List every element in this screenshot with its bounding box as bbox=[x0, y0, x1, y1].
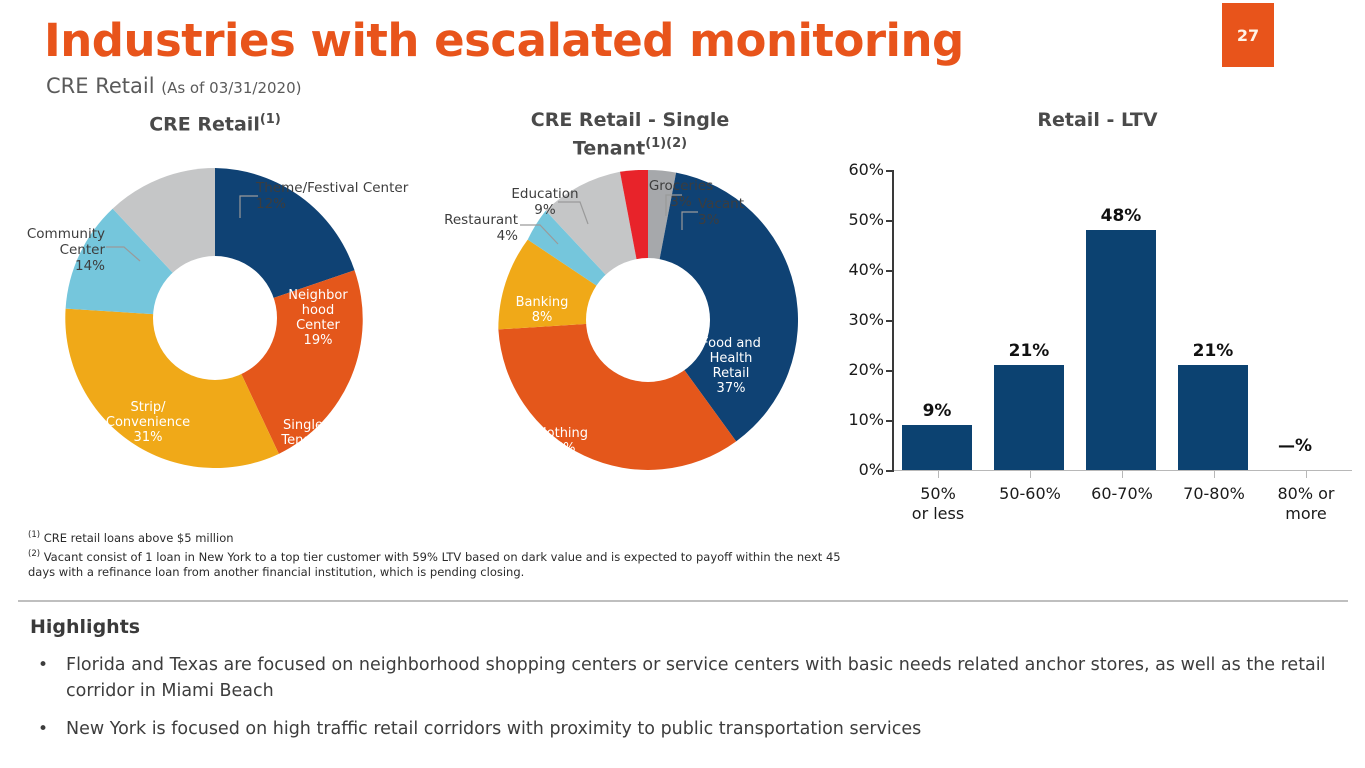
x-tick-mark-3 bbox=[1122, 470, 1123, 478]
leader-line-restaurant bbox=[520, 220, 562, 250]
donut-chart-cre-retail bbox=[65, 168, 365, 468]
callout-label-name: Theme/Festival Center bbox=[256, 180, 408, 196]
leader-line-theme-festival-center bbox=[236, 190, 262, 222]
cat-line2: or less bbox=[912, 504, 964, 523]
y-tick-label-0: 0% bbox=[832, 460, 884, 479]
footnote-1: (1) CRE retail loans above $5 million bbox=[28, 528, 848, 546]
y-tick-mark-40 bbox=[886, 270, 894, 272]
highlights-heading: Highlights bbox=[30, 616, 140, 638]
bar-value-60-70: 48% bbox=[1086, 206, 1156, 226]
footnote-2-marker: (2) bbox=[28, 549, 40, 559]
y-tick-mark-60 bbox=[886, 170, 894, 172]
cat-line1: 80% or bbox=[1277, 484, 1334, 503]
cat-line1: 70-80% bbox=[1183, 484, 1245, 503]
bar-value-50-or-less: 9% bbox=[902, 401, 972, 421]
x-category-label-70-80: 70-80% bbox=[1168, 484, 1260, 504]
x-tick-mark-2 bbox=[1030, 470, 1031, 478]
page-title: Industries with escalated monitoring bbox=[44, 14, 964, 67]
chart-title-single-tenant: CRE Retail - Single Tenant(1)(2) bbox=[430, 108, 830, 160]
leader-line-community-center bbox=[106, 243, 146, 265]
chart-title-retail-ltv: Retail - LTV bbox=[830, 108, 1365, 132]
as-of-date: (As of 03/31/2020) bbox=[161, 79, 301, 97]
y-tick-label-30: 30% bbox=[832, 310, 884, 329]
bullet-icon: • bbox=[38, 716, 48, 742]
page-subtitle: CRE Retail (As of 03/31/2020) bbox=[46, 74, 301, 98]
cat-line1: 50% bbox=[920, 484, 956, 503]
callout-label-community-center: Community Center 14% bbox=[0, 226, 105, 274]
bullet-icon: • bbox=[38, 652, 48, 678]
donut-svg-cre-retail bbox=[65, 168, 365, 468]
cat-line2: more bbox=[1285, 504, 1326, 523]
cat-line1: 60-70% bbox=[1091, 484, 1153, 503]
x-category-label-50-60: 50-60% bbox=[984, 484, 1076, 504]
chart-title-superscript: (1)(2) bbox=[645, 136, 687, 151]
y-tick-mark-30 bbox=[886, 320, 894, 322]
bar-value-50-60: 21% bbox=[994, 341, 1064, 361]
footnote-1-text: CRE retail loans above $5 million bbox=[44, 531, 234, 545]
bar-chart-retail-ltv: 60% 50% 40% 30% 20% 10% 0% 9% 21% 48% 21… bbox=[830, 158, 1365, 528]
list-item: • New York is focused on high traffic re… bbox=[30, 716, 1330, 742]
y-tick-label-10: 10% bbox=[832, 410, 884, 429]
callout-label-value: 14% bbox=[75, 258, 105, 274]
x-category-label-80-or-more: 80% or more bbox=[1260, 484, 1352, 524]
y-tick-label-40: 40% bbox=[832, 260, 884, 279]
footnotes: (1) CRE retail loans above $5 million (2… bbox=[28, 528, 848, 581]
y-tick-label-60: 60% bbox=[832, 160, 884, 179]
bar-value-70-80: 21% bbox=[1178, 341, 1248, 361]
callout-label-theme-festival-center: Theme/Festival Center 12% bbox=[256, 180, 436, 212]
bar-50-60[interactable] bbox=[994, 365, 1064, 470]
page-number-badge: 27 bbox=[1222, 3, 1274, 67]
panel-single-tenant: CRE Retail - Single Tenant(1)(2) Food an… bbox=[430, 108, 830, 528]
highlights-list: • Florida and Texas are focused on neigh… bbox=[30, 652, 1330, 754]
chart-title-text: CRE Retail bbox=[149, 113, 260, 135]
bar-value-80-or-more: —% bbox=[1260, 436, 1330, 456]
y-tick-mark-20 bbox=[886, 370, 894, 372]
leader-line-education bbox=[558, 196, 594, 230]
footnote-1-marker: (1) bbox=[28, 530, 40, 540]
chart-title-superscript: (1) bbox=[260, 112, 281, 127]
x-category-label-50-or-less: 50% or less bbox=[892, 484, 984, 524]
y-tick-mark-10 bbox=[886, 420, 894, 422]
donut-hole bbox=[586, 258, 710, 382]
footnote-2: (2) Vacant consist of 1 loan in New York… bbox=[28, 547, 848, 580]
callout-label-value: 9% bbox=[534, 202, 555, 218]
x-tick-mark-1 bbox=[938, 470, 939, 478]
cat-line1: 50-60% bbox=[999, 484, 1061, 503]
callout-label-name: Vacant bbox=[698, 196, 744, 212]
y-tick-mark-50 bbox=[886, 220, 894, 222]
panel-cre-retail: CRE Retail(1) Neighbor hood Center 19% S… bbox=[0, 108, 430, 528]
chart-title-line1: CRE Retail - Single bbox=[531, 109, 729, 131]
bar-60-70[interactable] bbox=[1086, 230, 1156, 470]
list-item: • Florida and Texas are focused on neigh… bbox=[30, 652, 1330, 704]
donut-hole bbox=[153, 256, 277, 380]
footnote-2-text: Vacant consist of 1 loan in New York to … bbox=[28, 550, 841, 579]
leader-line-vacant bbox=[680, 208, 704, 234]
section-divider bbox=[18, 600, 1348, 602]
highlight-text: Florida and Texas are focused on neighbo… bbox=[66, 655, 1326, 701]
x-category-label-60-70: 60-70% bbox=[1076, 484, 1168, 504]
x-tick-mark-5 bbox=[1306, 470, 1307, 478]
callout-label-name: Community Center bbox=[27, 226, 105, 258]
subtitle-text: CRE Retail bbox=[46, 74, 155, 98]
bar-50-or-less[interactable] bbox=[902, 425, 972, 470]
panel-retail-ltv: Retail - LTV 60% 50% 40% 30% 20% 10% 0% … bbox=[830, 108, 1365, 528]
y-tick-mark-0 bbox=[886, 470, 894, 472]
bar-70-80[interactable] bbox=[1178, 365, 1248, 470]
y-tick-label-50: 50% bbox=[832, 210, 884, 229]
y-tick-label-20: 20% bbox=[832, 360, 884, 379]
callout-label-value: 4% bbox=[497, 228, 518, 244]
highlight-text: New York is focused on high traffic reta… bbox=[66, 719, 921, 739]
callout-label-vacant: Vacant 3% bbox=[698, 196, 788, 228]
chart-title-cre-retail: CRE Retail(1) bbox=[0, 108, 430, 136]
chart-title-line2: Tenant bbox=[573, 137, 645, 159]
x-tick-mark-4 bbox=[1214, 470, 1215, 478]
